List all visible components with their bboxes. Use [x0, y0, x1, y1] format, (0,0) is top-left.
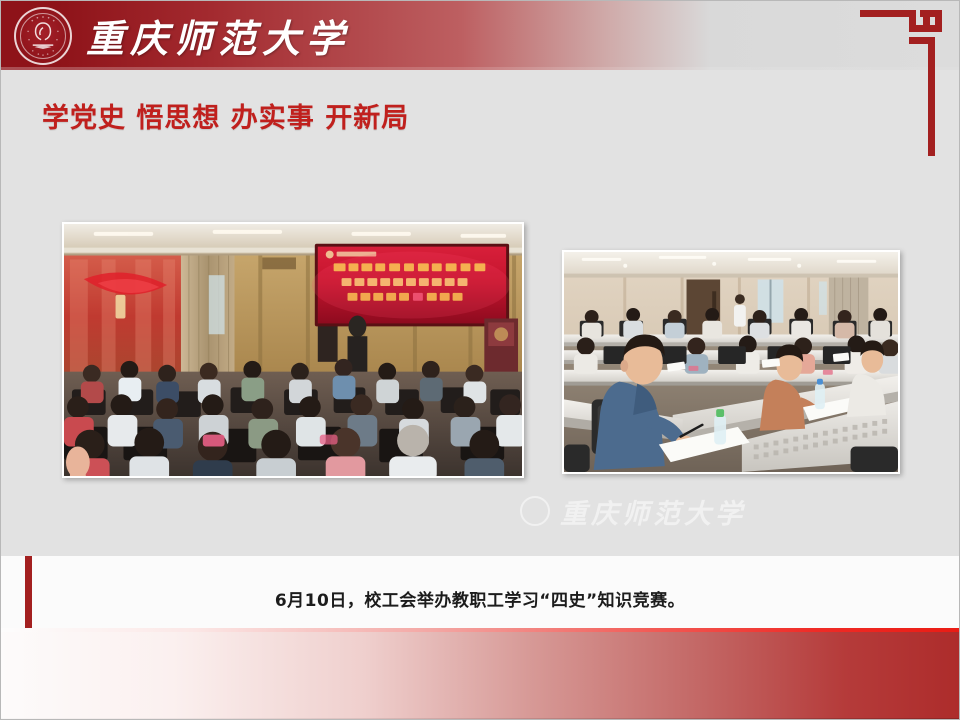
top-right-corner-ornament-icon [860, 8, 942, 156]
computer-lab-photo [562, 250, 900, 474]
university-logo [14, 7, 72, 65]
computer-lab-photo-content [564, 252, 898, 472]
university-watermark: 重庆师范大学 [520, 490, 800, 532]
slide-header: 重庆师范大学 [0, 0, 960, 70]
slide-caption: 6月10日，校工会举办教职工学习“四史”知识竞赛。 [0, 586, 960, 611]
bottom-band-accent-line [0, 628, 960, 632]
computer-lab-image [564, 252, 898, 472]
logo-emblem-icon [16, 9, 70, 63]
lecture-hall-photo [62, 222, 524, 478]
university-name-wordmark: 重庆师范大学 [86, 4, 350, 66]
bottom-decorative-band [0, 628, 960, 720]
university-emblem-watermark-icon [520, 496, 550, 526]
lecture-hall-image [64, 224, 522, 476]
lecture-hall-photo-content [64, 224, 522, 476]
watermark-text: 重庆师范大学 [560, 492, 746, 531]
presentation-slide: 重庆师范大学 学党史 悟思想 办实事 开新局 [0, 0, 960, 720]
page-title: 学党史 悟思想 办实事 开新局 [42, 96, 409, 135]
